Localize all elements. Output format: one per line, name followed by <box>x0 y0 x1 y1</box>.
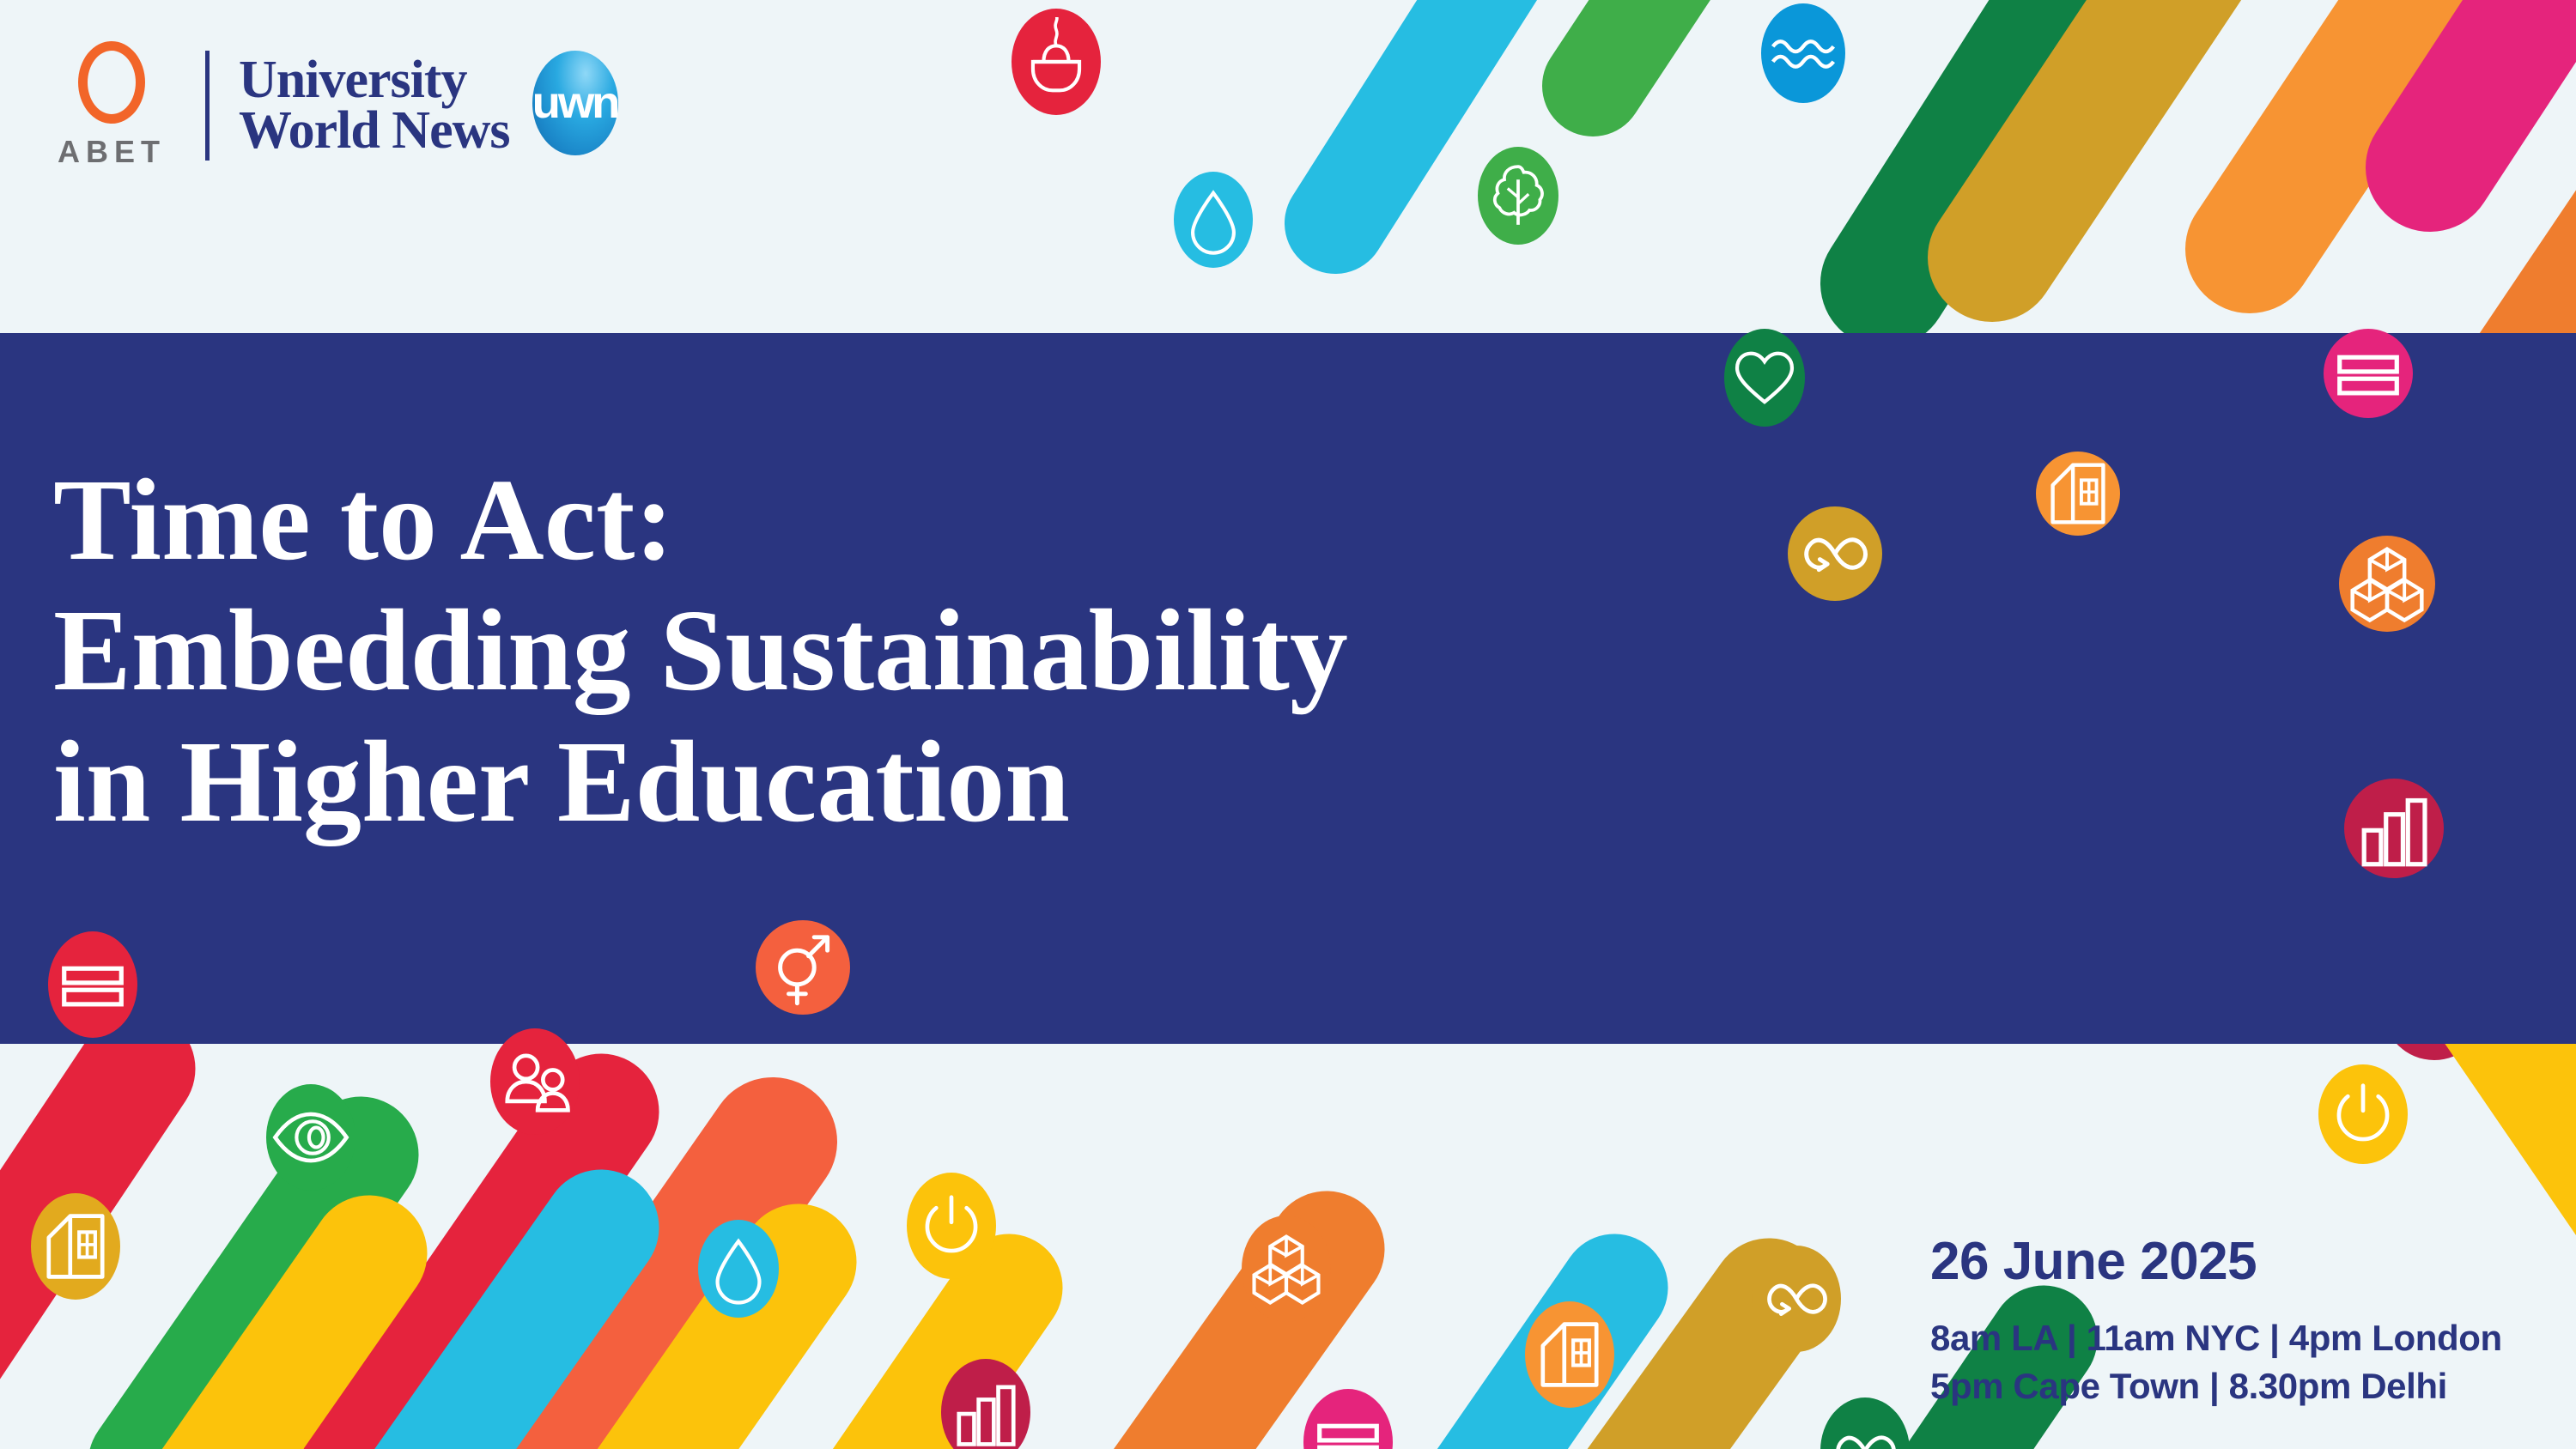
logo-bar: ABET University World News uwn <box>47 47 618 163</box>
uwn-badge-icon: uwn <box>532 51 618 155</box>
gender-icon <box>756 920 850 1015</box>
tree-icon <box>1478 147 1558 245</box>
heart-icon <box>1724 329 1805 427</box>
event-timezones-line-1: 8am LA | 11am NYC | 4pm London <box>1930 1314 2523 1363</box>
abet-logo[interactable]: ABET <box>47 41 176 170</box>
power-icon <box>907 1173 996 1279</box>
cubes-icon <box>2339 536 2435 632</box>
uwn-wordmark-line1: University <box>239 55 510 105</box>
page-title-line-1: Time to Act: <box>53 455 1814 585</box>
abet-wordmark: ABET <box>58 134 166 170</box>
power-icon <box>2318 1064 2408 1164</box>
cubes-icon <box>1242 1216 1331 1322</box>
waves-icon <box>1761 3 1845 103</box>
equals-icon <box>2324 329 2413 418</box>
banner-canvas: .cap{stroke-linecap:round;fill:none;} <box>0 0 2576 1449</box>
infinity-arrow-icon <box>1752 1246 1841 1352</box>
event-date: 26 June 2025 <box>1930 1231 2523 1292</box>
uwn-wordmark[interactable]: University World News <box>239 55 510 155</box>
infinity-arrow-icon <box>1820 1397 1910 1449</box>
uwn-wordmark-line2: World News <box>239 106 510 155</box>
bar-chart-icon <box>2344 779 2444 878</box>
equals-icon <box>48 931 137 1038</box>
page-title-line-3: in Higher Education <box>53 717 1814 847</box>
event-timezones-line-2: 5pm Cape Town | 8.30pm Delhi <box>1930 1362 2523 1411</box>
eye-icon <box>266 1084 355 1191</box>
water-drop-icon <box>698 1220 779 1318</box>
logo-divider <box>205 51 210 161</box>
uwn-badge-text: uwn <box>532 77 618 129</box>
abet-ring-icon <box>78 41 145 124</box>
house-icon <box>31 1193 120 1300</box>
bowl-steam-icon <box>1012 9 1101 115</box>
equals-icon <box>1303 1389 1393 1449</box>
event-details: 26 June 2025 8am LA | 11am NYC | 4pm Lon… <box>1930 1231 2523 1411</box>
page-title: Time to Act: Embedding Sustainability in… <box>53 455 1814 847</box>
water-drop-icon <box>1174 172 1253 268</box>
people-icon <box>490 1028 580 1135</box>
house-icon <box>2036 452 2120 536</box>
page-title-line-2: Embedding Sustainability <box>53 585 1814 716</box>
house-icon <box>1525 1301 1614 1408</box>
bar-chart-icon <box>941 1359 1030 1449</box>
